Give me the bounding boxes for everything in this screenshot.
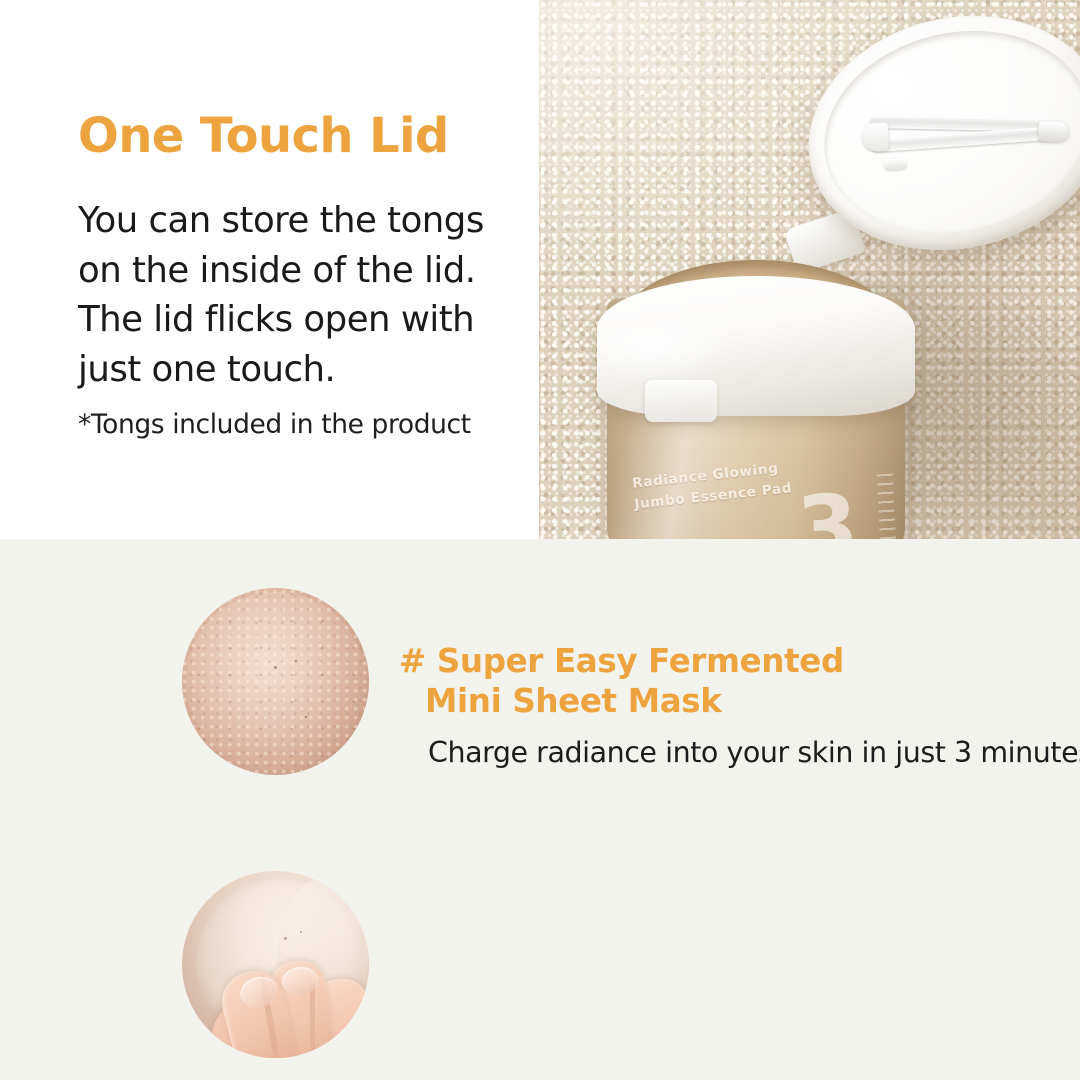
pad-speck	[284, 937, 287, 940]
feature-row: # Super Easy Fermented Mini Sheet Mask C…	[0, 588, 1080, 820]
feature-highlights-section: # Super Easy Fermented Mini Sheet Mask C…	[0, 539, 1080, 1080]
hand-holding-pad-photo	[182, 871, 369, 1058]
finger-separation	[310, 983, 315, 1058]
hand-graphic	[206, 957, 369, 1058]
top-body-line-1: You can store the tongs	[78, 196, 528, 246]
page-title: One Touch Lid	[78, 112, 528, 160]
pad-speck	[305, 716, 307, 718]
open-jar-with-tongs-in-lid-photo: Radiance Glowing Jumbo Essence Pad 3	[539, 0, 1080, 539]
tongs-tip	[1038, 121, 1069, 142]
top-copy-block: One Touch Lid You can store the tongs on…	[78, 112, 528, 440]
feature-row: # Smooth Out Skin Texture Lightly brush …	[0, 820, 1080, 1060]
feature-heading: # Super Easy Fermented Mini Sheet Mask	[399, 641, 1059, 722]
feature-heading-line-1: # Super Easy Fermented	[399, 641, 1059, 681]
jar-collar-press-tab	[645, 380, 717, 422]
jar-number-graphic: 3	[795, 482, 861, 539]
footnote-tongs-included: *Tongs included in the product	[78, 409, 528, 440]
tongs-hinge	[862, 122, 889, 151]
pad-speck	[295, 660, 297, 662]
jar-collar-highlight	[605, 322, 725, 382]
top-body-line-4: just one touch.	[78, 345, 528, 395]
one-touch-lid-section: One Touch Lid You can store the tongs on…	[0, 0, 1080, 539]
tongs-arm-lower	[870, 126, 1054, 152]
pad-speck	[274, 666, 277, 669]
pad-fiber-texture	[182, 588, 369, 775]
clear-plastic-tongs	[862, 103, 1064, 176]
top-body-line-3: The lid flicks open with	[78, 295, 528, 345]
product-detail-page: One Touch Lid You can store the tongs on…	[0, 0, 1080, 1080]
feature-heading-line-2: Mini Sheet Mask	[399, 681, 1059, 721]
feature-text-block: # Super Easy Fermented Mini Sheet Mask C…	[399, 641, 1059, 769]
top-body-text: You can store the tongs on the inside of…	[78, 196, 528, 395]
top-body-line-2: on the inside of the lid.	[78, 246, 528, 296]
essence-pad-jar: Radiance Glowing Jumbo Essence Pad 3	[597, 202, 915, 539]
feature-description: Charge radiance into your skin in just 3…	[399, 736, 1059, 769]
pad-speck	[300, 931, 302, 933]
essence-pad-closeup-photo	[182, 588, 369, 775]
